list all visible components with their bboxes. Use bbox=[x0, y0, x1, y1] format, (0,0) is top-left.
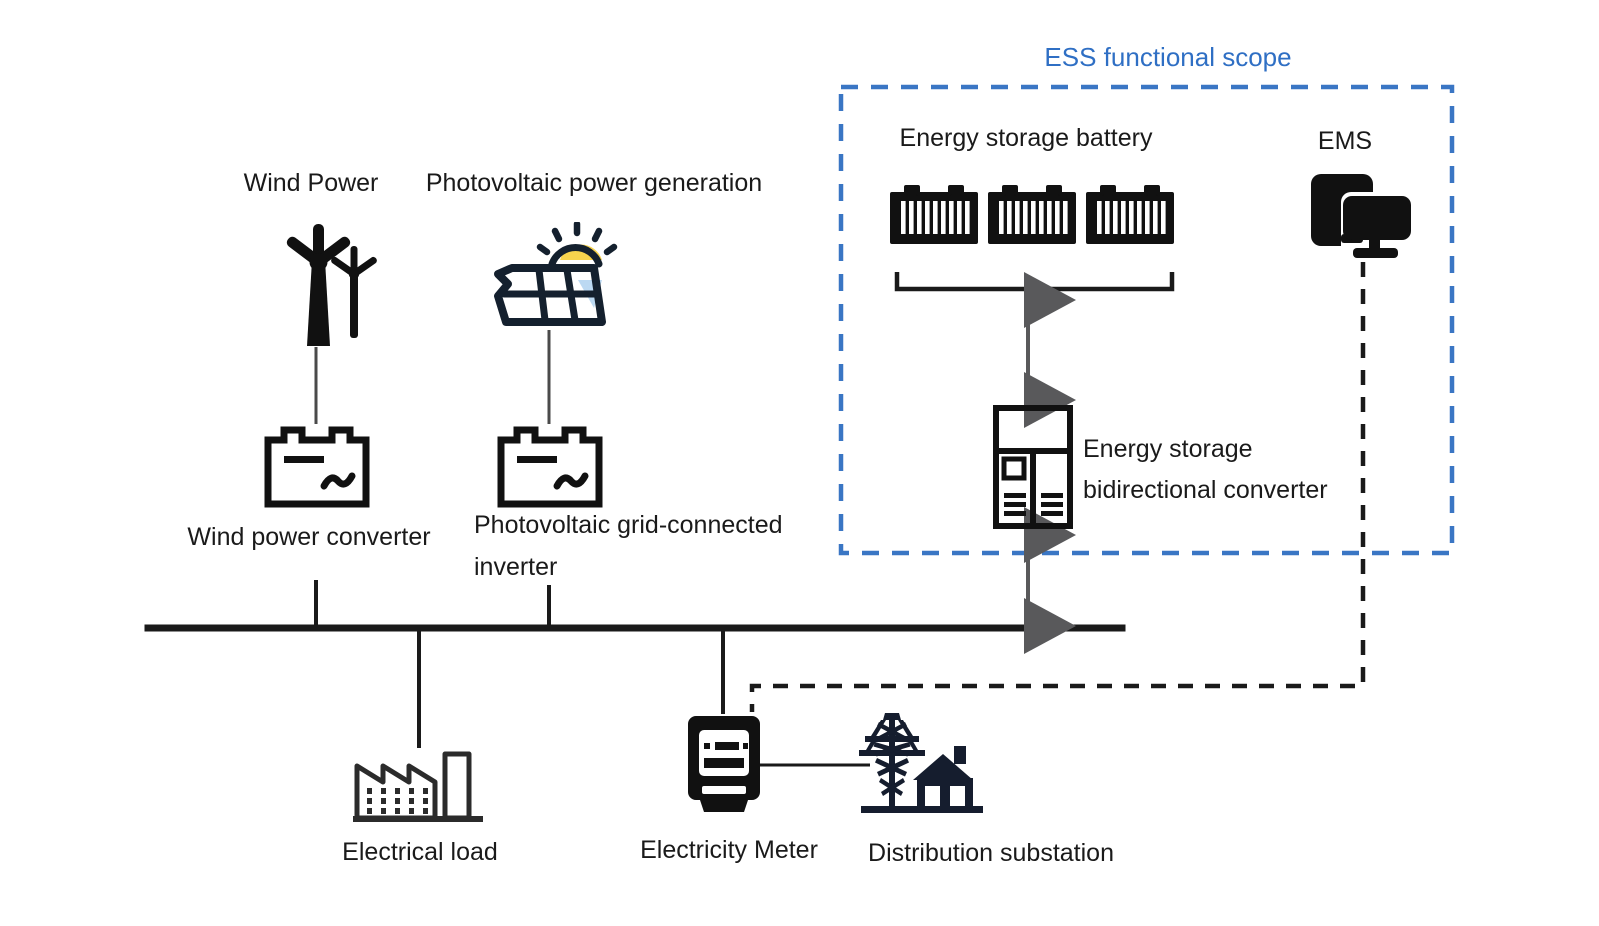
wind-turbine-icon bbox=[250, 224, 390, 352]
converter-icon bbox=[495, 424, 605, 510]
ess-scope-title: ESS functional scope bbox=[1044, 41, 1291, 74]
solar-panel-icon bbox=[482, 222, 618, 332]
pylon-house-icon bbox=[855, 706, 983, 816]
battery-bracket bbox=[897, 272, 1172, 289]
diagram-canvas: ESS functional scope Wind Power Photovol… bbox=[0, 0, 1599, 926]
ems-label: EMS bbox=[1318, 125, 1372, 157]
bidirectional-converter-label-line2: bidirectional converter bbox=[1083, 474, 1328, 506]
wind-power-label: Wind Power bbox=[244, 167, 379, 199]
battery-rack-icon bbox=[890, 180, 1178, 246]
battery-label: Energy storage battery bbox=[900, 122, 1153, 154]
pv-inverter-label-line2: inverter bbox=[474, 551, 557, 583]
electrical-load-label: Electrical load bbox=[342, 836, 498, 868]
pv-inverter-label-line1: Photovoltaic grid-connected bbox=[474, 509, 783, 541]
distribution-substation-label: Distribution substation bbox=[868, 837, 1114, 869]
computer-monitor-icon bbox=[1309, 170, 1413, 262]
wind-converter-label: Wind power converter bbox=[187, 521, 430, 553]
converter-icon bbox=[262, 424, 372, 510]
factory-icon bbox=[353, 748, 483, 824]
electricity-meter-label: Electricity Meter bbox=[640, 834, 818, 866]
converter-cabinet-icon bbox=[993, 405, 1073, 529]
meter-icon bbox=[686, 714, 762, 814]
pv-generation-label: Photovoltaic power generation bbox=[426, 167, 762, 199]
bidirectional-converter-label-line1: Energy storage bbox=[1083, 433, 1253, 465]
